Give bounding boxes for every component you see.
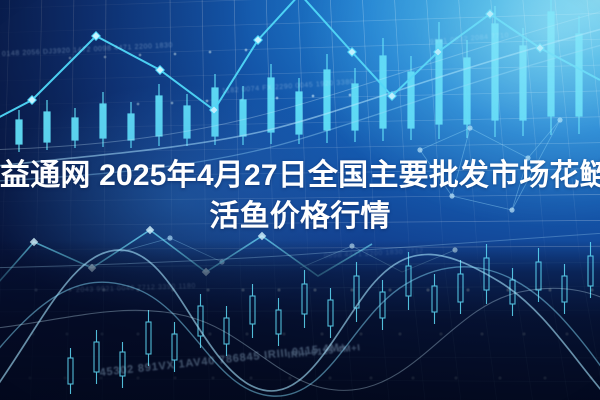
banner-title: 益通网 2025年4月27日全国主要批发市场花鲢 活鱼价格行情 <box>0 155 600 237</box>
title-line-1: 益通网 2025年4月27日全国主要批发市场花鲢 <box>0 155 600 196</box>
stock-chart-banner: 0148 2056 DJ3920 1472 0098 4471 2200 183… <box>0 0 600 400</box>
title-line-2: 活鱼价格行情 <box>0 196 600 237</box>
